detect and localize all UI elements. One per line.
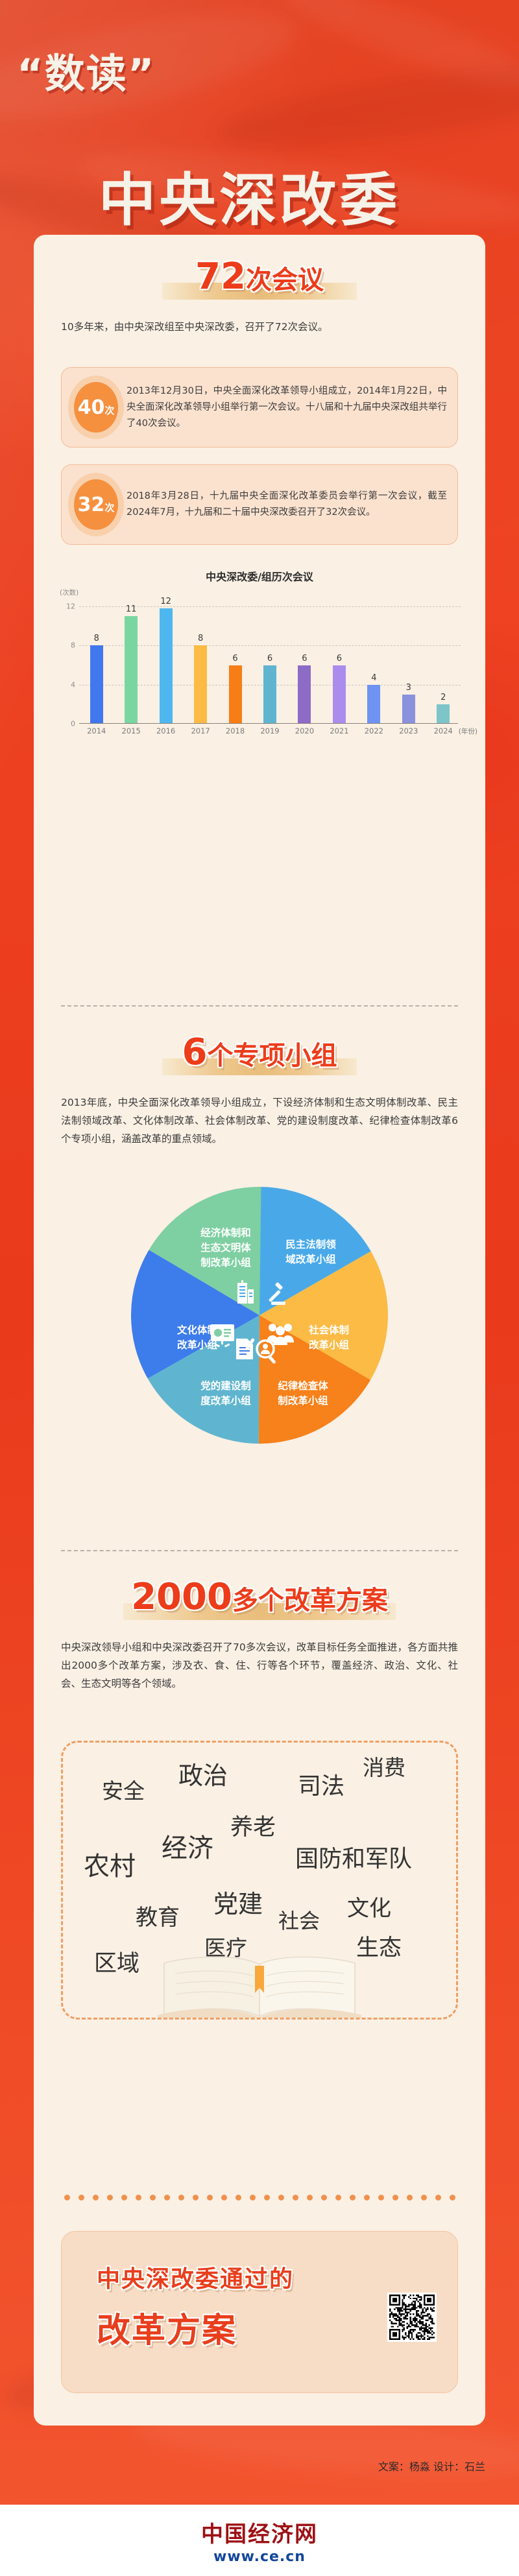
section2-paragraph: 2013年底，中央全面深化改革领导小组成立，下设经济体制和生态文明体制改革、民主…	[61, 1093, 458, 1148]
chart-bar	[333, 665, 346, 724]
logo-chinese-name: 中国经济网	[201, 2516, 318, 2548]
word-text: 生态	[356, 1935, 402, 1961]
banner-number: 6	[182, 1031, 208, 1073]
cloud-word: 区域	[94, 1945, 139, 1978]
chart-bar-value: 3	[406, 683, 411, 693]
credit-line: 文案：杨淼 设计：石兰	[378, 2458, 485, 2474]
stat-bubble-40: 40次	[68, 376, 124, 439]
chart-x-label: 2015	[114, 726, 148, 735]
chart-bar-value: 8	[94, 634, 99, 643]
cloud-word: 司法	[298, 1767, 344, 1801]
open-book-icon	[152, 1953, 367, 2020]
word-text: 社会	[278, 1909, 320, 1933]
stat-value-40: 40	[78, 396, 105, 419]
content-card: 72次会议 10多年来，由中央深改组至中央深改委，召开了72次会议。 40次 2…	[34, 235, 485, 2426]
cta-line-2: 改革方案	[97, 2303, 237, 2352]
chart-y-tick: 0	[62, 720, 75, 728]
word-text: 政治	[178, 1761, 228, 1790]
section-divider-1	[61, 1005, 458, 1007]
section-2000-plans: 2000多个改革方案 中央深改领导小组和中央深改委召开了70多次会议，改革目标任…	[34, 1576, 485, 1627]
chart-x-label: 2021	[322, 726, 356, 735]
dot-separator	[61, 2195, 458, 2200]
cloud-word: 农村	[84, 1845, 136, 1883]
chart-bar-value: 4	[371, 673, 376, 683]
word-text: 司法	[298, 1773, 344, 1800]
chart-bar-group: 11	[114, 597, 148, 724]
word-text: 教育	[136, 1905, 180, 1931]
chart-bar-group: 6	[218, 597, 252, 724]
stat-unit-32: 次	[104, 502, 114, 514]
word-text: 文化	[347, 1896, 391, 1922]
cloud-word: 生态	[356, 1929, 402, 1962]
cloud-word: 消费	[363, 1750, 405, 1782]
chart-bar	[229, 665, 242, 724]
chart-bar	[125, 616, 138, 724]
chart-bar-group: 2	[426, 597, 461, 724]
chart-title: 中央深改委/组历次会议	[61, 568, 458, 584]
chart-bar-group: 6	[322, 597, 356, 724]
word-text: 医疗	[204, 1935, 247, 1961]
chart-bar-value: 6	[302, 654, 307, 663]
qr-code-icon	[389, 2295, 435, 2340]
section-6-groups: 6个专项小组 2013年底，中央全面深化改革领导小组成立，下设经济体制和生态文明…	[34, 1031, 485, 1082]
cloud-word: 养老	[230, 1809, 276, 1842]
chart-bar-group: 4	[357, 597, 391, 724]
chart-bar	[160, 608, 173, 724]
stat-value-32: 32	[78, 494, 105, 516]
cta-line-1: 中央深改委通过的	[97, 2260, 294, 2294]
chart-bar-value: 8	[198, 634, 203, 643]
pie-chart: 经济体制和 生态文明体 制改革小组 民主法制领 域改革小组 社会体制 改革小组 …	[130, 1186, 389, 1445]
stat-text-32: 2018年3月28日，十九届中央全面深化改革委员会举行第一次会议，截至2024年…	[127, 488, 447, 521]
chart-x-label: 2018	[218, 726, 252, 735]
chart-plot-area: (次数) 04812 8111286666432 201420152016201…	[61, 597, 461, 724]
cloud-word: 教育	[136, 1900, 180, 1931]
cloud-word: 医疗	[204, 1931, 247, 1962]
word-text: 经济	[162, 1833, 213, 1863]
word-text: 党建	[213, 1890, 263, 1918]
stat-card-32: 32次 2018年3月28日，十九届中央全面深化改革委员会举行第一次会议，截至2…	[61, 464, 458, 545]
chart-bar-value: 6	[337, 654, 342, 663]
chart-bar	[263, 665, 276, 724]
chart-bar-value: 11	[126, 604, 137, 614]
chart-y-unit: (次数)	[60, 588, 78, 597]
stat-bubble-32: 32次	[68, 473, 124, 536]
bar-chart: 中央深改委/组历次会议 (次数) 04812 8111286666432 201…	[61, 568, 458, 724]
chart-bar-group: 8	[79, 597, 114, 724]
cloud-word: 文化	[347, 1890, 391, 1922]
cloud-word: 安全	[102, 1774, 145, 1805]
word-text: 区域	[94, 1951, 139, 1977]
banner-number: 72	[195, 256, 246, 298]
stat-text-40: 2013年12月30日，中央全面深化改革领导小组成立，2014年1月22日，中央…	[127, 383, 447, 432]
pie-svg	[130, 1186, 389, 1445]
cloud-word: 党建	[213, 1884, 263, 1920]
section1-paragraph: 10多年来，由中央深改组至中央深改委，召开了72次会议。	[61, 318, 458, 336]
chart-y-tick: 8	[62, 641, 75, 650]
word-text: 消费	[363, 1755, 405, 1780]
banner-2000-plans: 2000多个改革方案	[34, 1576, 485, 1627]
chart-y-tick: 12	[62, 602, 75, 611]
chart-x-label: 2024	[426, 726, 461, 735]
logo-url: www.ce.cn	[213, 2549, 306, 2565]
banner-number: 2000	[131, 1576, 232, 1618]
section3-paragraph: 中央深改领导小组和中央深改委召开了70多次会议，改革目标任务全面推进，各方面共推…	[61, 1638, 458, 1693]
chart-bar	[298, 665, 311, 724]
chart-bar	[367, 685, 380, 724]
chart-bar-value: 12	[160, 597, 171, 606]
chart-bar-value: 6	[267, 654, 272, 663]
chart-bar-group: 8	[183, 597, 217, 724]
cloud-word: 经济	[162, 1827, 213, 1865]
cloud-word: 社会	[278, 1905, 320, 1935]
banner-label: 多个改革方案	[232, 1586, 388, 1616]
word-text: 安全	[102, 1778, 145, 1804]
chart-bar-group: 6	[287, 597, 322, 724]
chart-bar-group: 6	[252, 597, 287, 724]
banner-6-groups: 6个专项小组	[34, 1031, 485, 1082]
chart-bar	[402, 695, 415, 724]
chart-x-label: 2023	[391, 726, 426, 735]
page-title: 中央深改委	[99, 154, 501, 237]
chart-x-label: 2016	[149, 726, 183, 735]
word-text: 养老	[230, 1815, 276, 1841]
banner-label: 次会议	[246, 265, 324, 295]
chart-bar-group: 3	[391, 597, 426, 724]
chart-x-unit: (年份)	[459, 726, 477, 736]
chart-bar-value: 6	[232, 654, 237, 663]
word-text: 农村	[84, 1852, 136, 1881]
chart-bar-value: 2	[441, 693, 446, 702]
chart-x-label: 2022	[357, 726, 391, 735]
stat-unit-40: 次	[104, 405, 114, 416]
word-cloud: 安全政治司法消费养老经济农村国防和军队党建教育文化社会医疗生态区域	[61, 1741, 458, 2020]
qr-code[interactable]	[387, 2293, 437, 2342]
stat-card-40: 40次 2013年12月30日，中央全面深化改革领导小组成立，2014年1月22…	[61, 367, 458, 447]
chart-x-label: 2020	[287, 726, 322, 735]
chart-bar-group: 12	[149, 597, 183, 724]
section-divider-2	[61, 1550, 458, 1551]
chart-y-tick: 4	[62, 680, 75, 689]
chart-x-label: 2017	[183, 726, 217, 735]
cloud-word: 政治	[178, 1756, 228, 1791]
chart-x-label: 2014	[79, 726, 114, 735]
cta-box[interactable]: 中央深改委通过的 改革方案	[61, 2231, 458, 2393]
cloud-word: 国防和军队	[295, 1840, 412, 1874]
section-72-meetings: 72次会议 10多年来，由中央深改组至中央深改委，召开了72次会议。 40次 2…	[34, 256, 485, 306]
site-logo: 中国经济网 www.ce.cn	[0, 2505, 519, 2576]
header-subtitle: “数读”	[17, 41, 231, 99]
chart-bar	[194, 645, 207, 724]
chart-bar	[90, 645, 103, 724]
word-text: 国防和军队	[295, 1846, 412, 1872]
chart-bar	[437, 704, 450, 724]
banner-72-meetings: 72次会议	[34, 256, 485, 306]
banner-label: 个专项小组	[207, 1041, 337, 1071]
chart-x-label: 2019	[252, 726, 287, 735]
